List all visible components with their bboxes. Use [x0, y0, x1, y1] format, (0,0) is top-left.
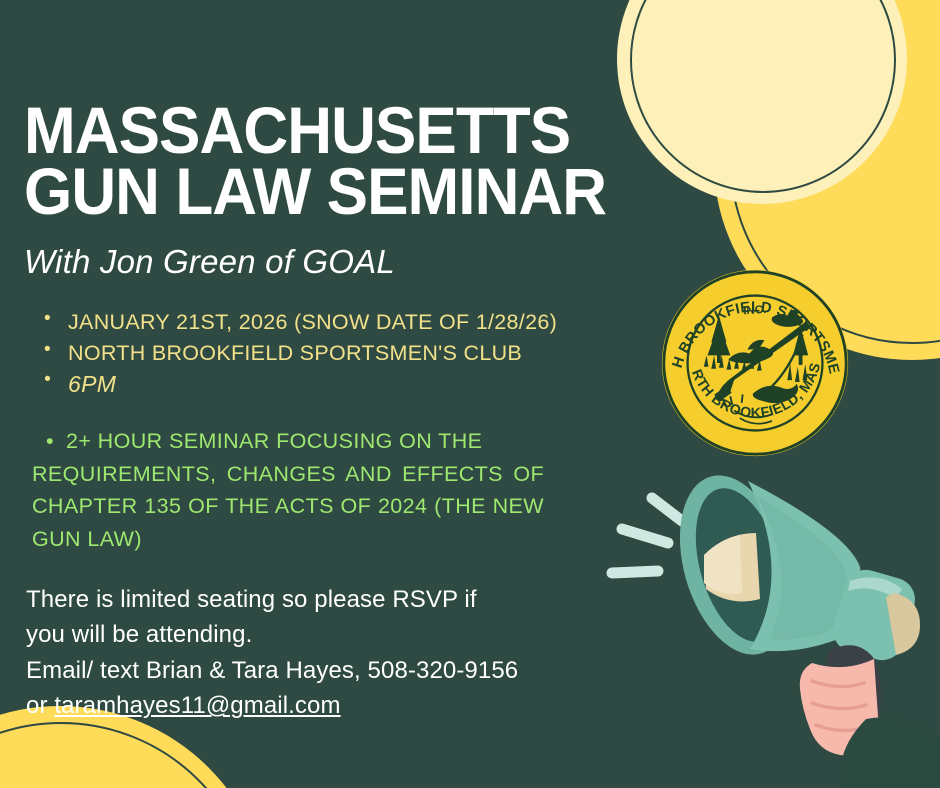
badge-inc-text: INC.	[743, 304, 767, 318]
email-link[interactable]: taramhayes11@gmail.com	[54, 692, 340, 719]
decor-ring-yellow-bottom-left	[0, 722, 256, 788]
decor-ring-cream-top-right	[630, 0, 896, 193]
poster-text-column: MASSACHUSETTS GUN LAW SEMINAR With Jon G…	[0, 0, 660, 724]
subtitle: With Jon Green of GOAL	[24, 221, 660, 281]
page-title: MASSACHUSETTS GUN LAW SEMINAR	[24, 0, 622, 221]
rsvp-contact-line: Email/ text Brian & Tara Hayes, 508-320-…	[26, 653, 586, 689]
event-details-list: JANUARY 21ST, 2026 (SNOW DATE OF 1/28/26…	[24, 281, 660, 401]
rsvp-line-2: you will be attending.	[26, 617, 586, 653]
rsvp-line-1: There is limited seating so please RSVP …	[26, 582, 586, 618]
poster-canvas: THE NORTH BROOKFIELD SPORTSMEN'S CLUB NO…	[0, 0, 940, 788]
list-item-date: JANUARY 21ST, 2026 (SNOW DATE OF 1/28/26…	[42, 307, 660, 338]
rsvp-email-line: or taramhayes11@gmail.com	[26, 688, 586, 724]
rsvp-block: There is limited seating so please RSVP …	[24, 556, 586, 724]
list-item-venue: NORTH BROOKFIELD SPORTSMEN'S CLUB	[42, 338, 660, 369]
description-rest: REQUIREMENTS, CHANGES AND EFFECTS OF CHA…	[32, 462, 544, 551]
rsvp-email-prefix: or	[26, 692, 54, 719]
decor-circle-cream-top-right	[617, 0, 907, 204]
list-item-time: 6PM	[42, 368, 660, 401]
description-first-line: 2+ HOUR SEMINAR FOCUSING ON THE	[32, 425, 482, 458]
club-badge: THE NORTH BROOKFIELD SPORTSMEN'S CLUB NO…	[658, 268, 852, 458]
seminar-description: 2+ HOUR SEMINAR FOCUSING ON THE REQUIREM…	[24, 401, 544, 556]
